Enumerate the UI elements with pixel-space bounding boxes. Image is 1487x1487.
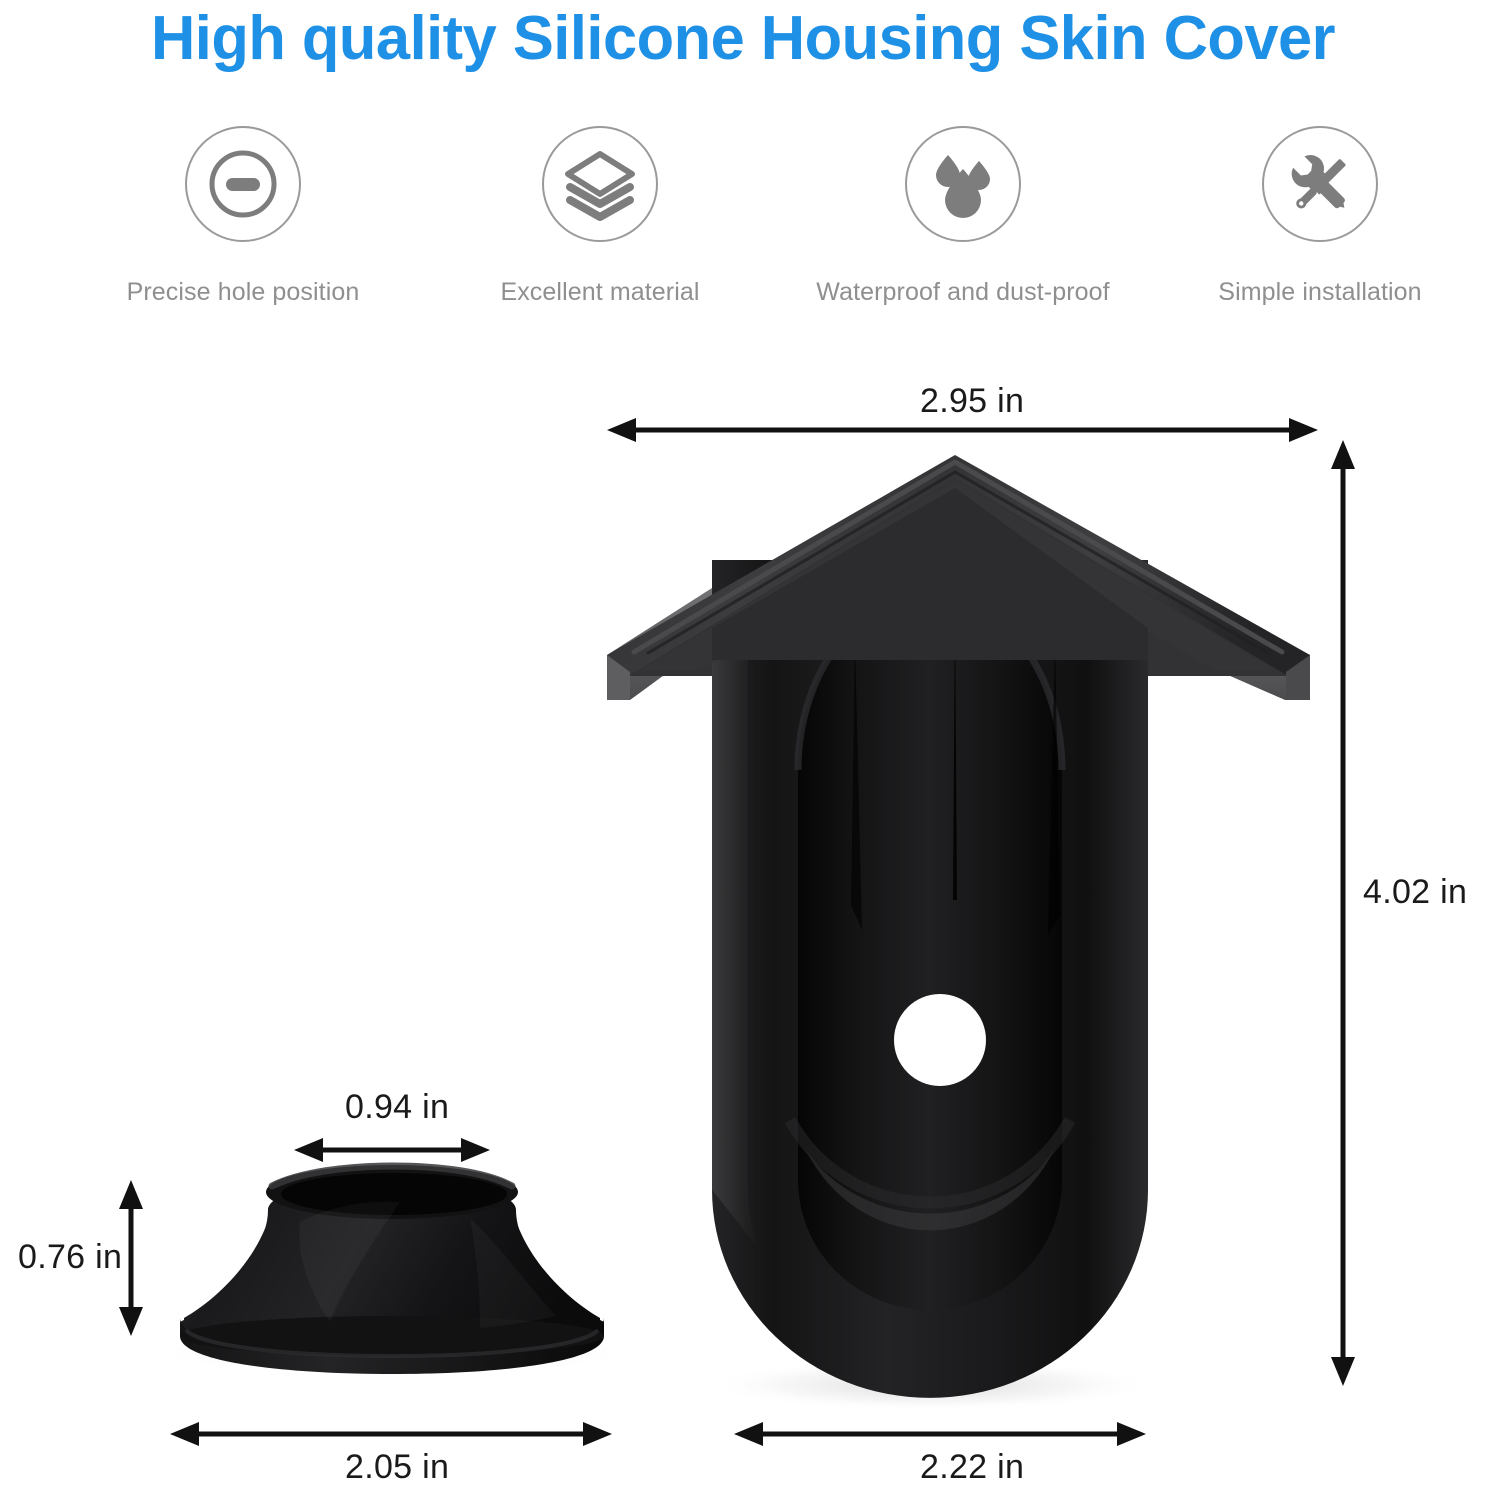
arrow-dome-height [119,1180,143,1336]
page-title: High quality Silicone Housing Skin Cover [0,0,1487,78]
feature-item-simple-installation: Simple installation [1170,126,1470,307]
feature-label: Simple installation [1170,278,1470,307]
roof-slope-right [955,455,1310,676]
layers-icon [542,126,658,242]
dome-opening-inner [281,1173,507,1215]
roof-face [628,478,1288,676]
cover-rib-center [953,605,957,900]
dimension-arrows [119,418,1355,1446]
feature-row: Precise hole position Excellent material [0,126,1487,326]
dim-label-cover-height: 4.02 in [1363,873,1467,912]
roof-ridge [634,462,1282,652]
cover-ground-shadow [705,1359,1155,1411]
cover-rib-left [851,640,862,930]
page-title-text: High quality Silicone Housing Skin Cover [151,8,1335,70]
silicone-housing-cover [607,455,1310,1398]
arrow-cover-width [607,418,1318,442]
arrow-dome-top [294,1138,490,1162]
arrow-cover-height [1331,440,1355,1386]
dim-label-dome-top: 0.94 in [345,1088,449,1127]
dome-body [184,1178,600,1366]
dim-label-dome-base: 2.05 in [345,1448,449,1487]
dim-label-cover-width: 2.95 in [920,382,1024,421]
dome-ground-shadow [154,1328,630,1376]
water-drops-icon [905,126,1021,242]
roof-slope-left [607,455,955,676]
lens-hole [894,994,986,1086]
dome-base-rim [180,1318,604,1374]
arrow-cover-depth [734,1422,1146,1446]
feature-label: Excellent material [450,278,750,307]
dome-mount-accessory [180,1165,604,1374]
feature-item-excellent-material: Excellent material [450,126,750,307]
feature-label: Waterproof and dust-proof [813,278,1113,307]
roof-eave-left [607,588,712,700]
product-infographic: High quality Silicone Housing Skin Cover… [0,0,1487,1487]
feature-item-waterproof: Waterproof and dust-proof [813,126,1113,307]
roof-eave-right [1148,588,1310,700]
tools-icon [1262,126,1378,242]
precise-hole-icon [185,126,301,242]
feature-item-precise-hole: Precise hole position [93,126,393,307]
dome-opening-outer [266,1165,518,1219]
cover-shell [712,560,1148,1398]
arrow-dome-base [170,1422,612,1446]
dim-label-dome-height: 0.76 in [18,1238,122,1277]
cover-rib-right [1048,640,1060,935]
dim-label-cover-depth: 2.22 in [920,1448,1024,1487]
feature-label: Precise hole position [93,278,393,307]
cover-inner-cavity [798,595,1062,1310]
